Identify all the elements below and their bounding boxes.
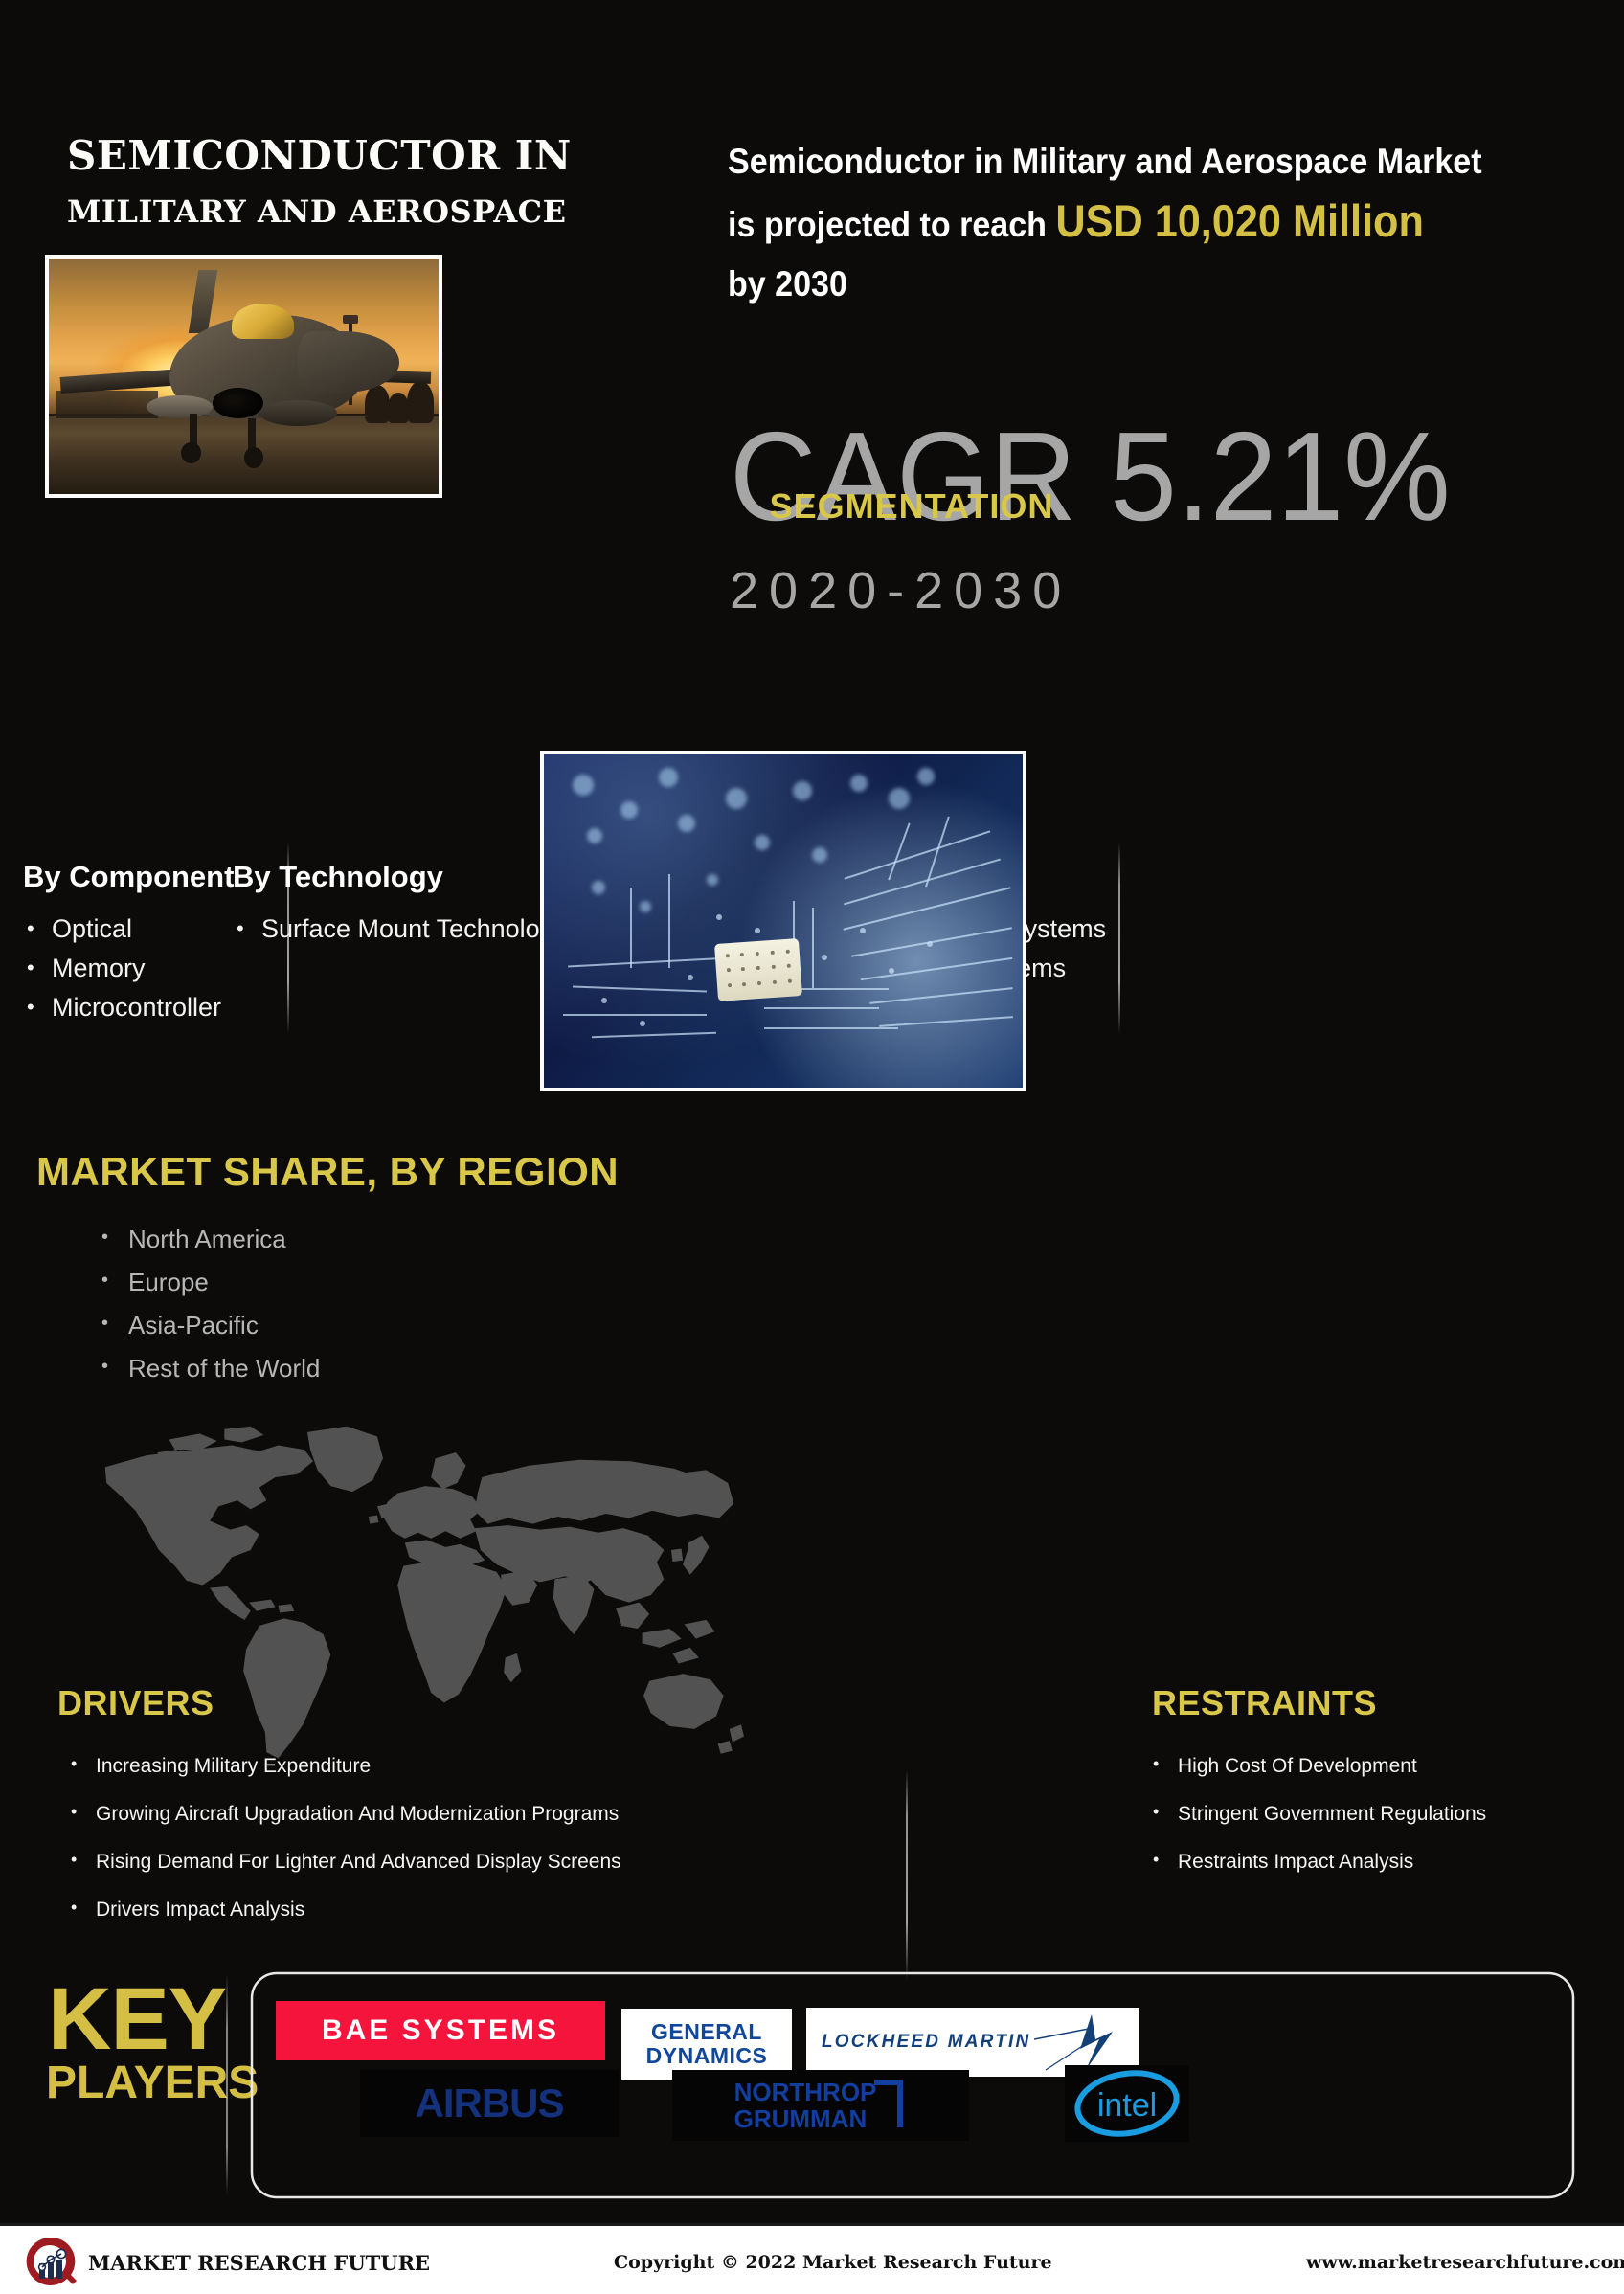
northrop-bracket-icon [874,2076,907,2131]
title-line-2: MILITARY AND AEROSPACE [67,183,661,240]
footer-brand: MARKET RESEARCH FUTURE [88,2251,430,2275]
logo-northrop-grumman: NORTHROP GRUMMAN [672,2070,969,2141]
list-item: High Cost Of Development [1149,1750,1486,1782]
footer: MARKET RESEARCH FUTURE Copyright © 2022 … [0,2223,1624,2294]
circuit-board-image [540,751,1026,1091]
logo-text: intel [1097,2087,1157,2124]
list-item: Drivers Impact Analysis [67,1894,621,1925]
segment-column-technology: By Technology Surface Mount Technology [233,860,567,949]
footer-copyright: Copyright © 2022 Market Research Future [614,2252,1052,2273]
region-list: North America Europe Asia-Pacific Rest o… [96,1218,320,1390]
list-item: Europe [96,1261,320,1304]
segment-item: Surface Mount Technology [233,910,567,949]
infographic-canvas: SEMICONDUCTOR IN MILITARY AND AEROSPACE … [0,0,1624,2294]
intel-logo-icon: intel [1071,2069,1184,2138]
segment-heading: By Component [23,860,234,894]
projection-prefix: is projected to reach [728,205,1055,244]
list-item: Stringent Government Regulations [1149,1798,1486,1830]
logo-text-line2: GRUMMAN [734,2105,868,2132]
segment-column-component: By Component Optical Memory Microcontrol… [23,860,234,1027]
list-item: Rest of the World [96,1347,320,1390]
segment-items: Surface Mount Technology [233,910,567,949]
market-research-future-logo-icon [23,2235,77,2288]
logo-general-dynamics: GENERAL DYNAMICS [621,2009,792,2080]
title-line-1: SEMICONDUCTOR IN [67,129,661,183]
list-item: Asia-Pacific [96,1304,320,1347]
logo-text-line1: GENERAL [651,2020,762,2044]
segment-item: Memory [23,949,234,988]
logo-bae-systems: BAE SYSTEMS [276,2001,605,2060]
list-item: Increasing Military Expenditure [67,1750,621,1782]
projection-value: USD 10,020 Million [1055,195,1423,246]
list-item: North America [96,1218,320,1261]
logo-text-line2: DYNAMICS [646,2044,768,2068]
projection-statement: Semiconductor in Military and Aerospace … [728,132,1570,314]
segment-item: Optical [23,910,234,949]
key-players-divider [226,1974,228,2194]
segmentation-divider-3 [1118,843,1120,1034]
logo-airbus: AIRBUS [360,2070,619,2137]
drivers-list: Increasing Military Expenditure Growing … [67,1750,621,1942]
segment-item: Microcontroller [23,988,234,1027]
drivers-restraints-divider [906,1769,908,1980]
projection-line-3: by 2030 [728,255,1503,314]
cagr-period: 2020-2030 [730,565,1071,617]
segment-items: Optical Memory Microcontroller [23,910,234,1027]
market-share-title: MARKET SHARE, BY REGION [36,1149,619,1195]
logo-text: LOCKHEED MARTIN [822,2032,1030,2053]
logo-text-line1: NORTHROP [734,2079,877,2105]
projection-line-2: is projected to reach USD 10,020 Million [728,191,1503,255]
footer-website: www.marketresearchfuture.com [1306,2252,1624,2273]
list-item: Restraints Impact Analysis [1149,1846,1486,1878]
list-item: Rising Demand For Lighter And Advanced D… [67,1846,621,1878]
drivers-title: DRIVERS [57,1683,214,1723]
logo-text: BAE SYSTEMS [322,2014,559,2047]
segmentation-title: SEGMENTATION [643,486,1180,527]
fighter-jet-image [45,255,442,498]
logo-text: AIRBUS [415,2080,563,2126]
restraints-list: High Cost Of Development Stringent Gover… [1149,1750,1486,1894]
list-item: Growing Aircraft Upgradation And Moderni… [67,1798,621,1830]
restraints-title: RESTRAINTS [1152,1683,1377,1723]
key-players-label-line1: KEY [48,1978,226,2060]
projection-line-1: Semiconductor in Military and Aerospace … [728,132,1503,191]
logo-intel: intel [1065,2065,1189,2142]
segment-heading: By Technology [233,860,567,894]
